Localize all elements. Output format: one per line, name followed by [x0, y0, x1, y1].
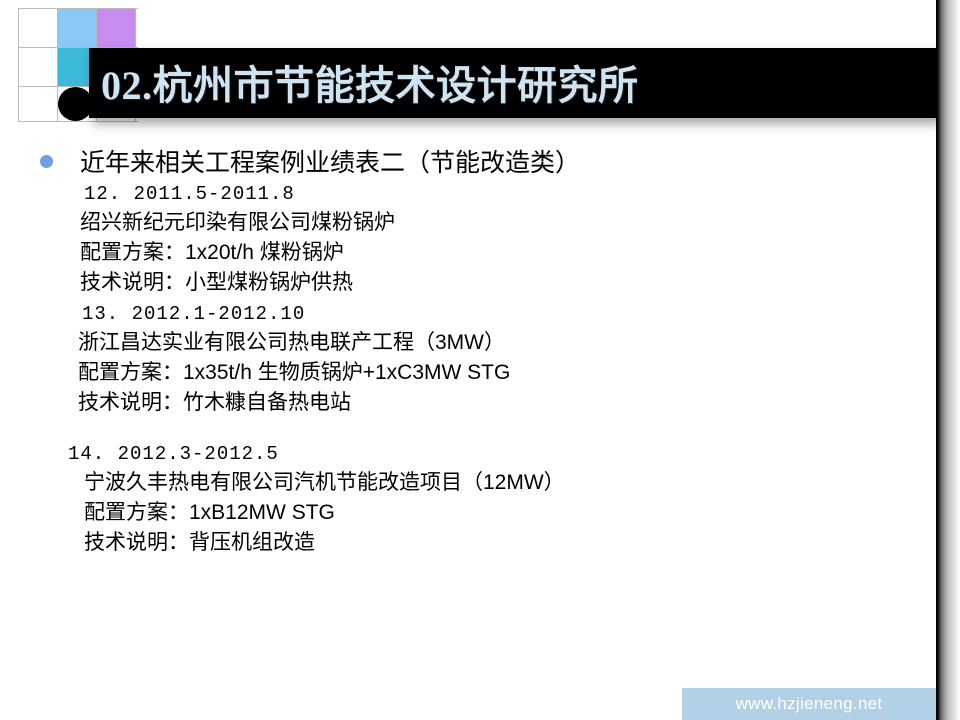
grid-line-vertical: [18, 8, 19, 122]
list-item: 14. 2012.3-2012.5 宁波久丰热电有限公司汽机节能改造项目（12M…: [0, 440, 900, 558]
slide-title-bar: 02.杭州市节能技术设计研究所: [89, 48, 938, 118]
bullet-dot-icon: [40, 155, 53, 168]
entry-project-name: 宁波久丰热电有限公司汽机节能改造项目（12MW）: [84, 468, 900, 498]
entry-configuration: 配置方案：1x35t/h 生物质锅炉+1xC3MW STG: [78, 358, 900, 388]
watermark-url: www.hzjieneng.net: [682, 694, 936, 714]
decorative-circle-black: [58, 87, 93, 121]
entry-date-range: 13. 2012.1-2012.10: [82, 300, 900, 328]
entry-date-range: 12. 2011.5-2011.8: [84, 180, 900, 208]
section-heading: 近年来相关工程案例业绩表二（节能改造类）: [40, 143, 580, 179]
entry-project-name: 绍兴新纪元印染有限公司煤粉锅炉: [80, 208, 900, 238]
page-title: 02.杭州市节能技术设计研究所: [101, 53, 639, 111]
list-item: 12. 2011.5-2011.8 绍兴新纪元印染有限公司煤粉锅炉 配置方案：1…: [0, 180, 900, 298]
entry-configuration: 配置方案：1xB12MW STG: [84, 498, 900, 528]
grid-line-horizontal: [18, 121, 138, 122]
entry-date-range: 14. 2012.3-2012.5: [68, 440, 900, 468]
decorative-square-lightblue: [58, 9, 96, 47]
decorative-square-purple: [97, 9, 135, 47]
entry-technical-note: 技术说明：竹木糠自备热电站: [78, 388, 900, 418]
entry-configuration: 配置方案：1x20t/h 煤粉锅炉: [80, 238, 900, 268]
list-item: 13. 2012.1-2012.10 浙江昌达实业有限公司热电联产工程（3MW）…: [0, 300, 900, 418]
slide-canvas: 02.杭州市节能技术设计研究所 近年来相关工程案例业绩表二（节能改造类） 12.…: [0, 0, 960, 720]
entry-technical-note: 技术说明：背压机组改造: [84, 528, 900, 558]
footer-watermark-band: www.hzjieneng.net: [682, 688, 936, 720]
entry-technical-note: 技术说明：小型煤粉锅炉供热: [80, 268, 900, 298]
slide-edge-shadow: [936, 0, 960, 720]
entry-project-name: 浙江昌达实业有限公司热电联产工程（3MW）: [78, 328, 900, 358]
section-heading-label: 近年来相关工程案例业绩表二（节能改造类）: [80, 143, 580, 179]
